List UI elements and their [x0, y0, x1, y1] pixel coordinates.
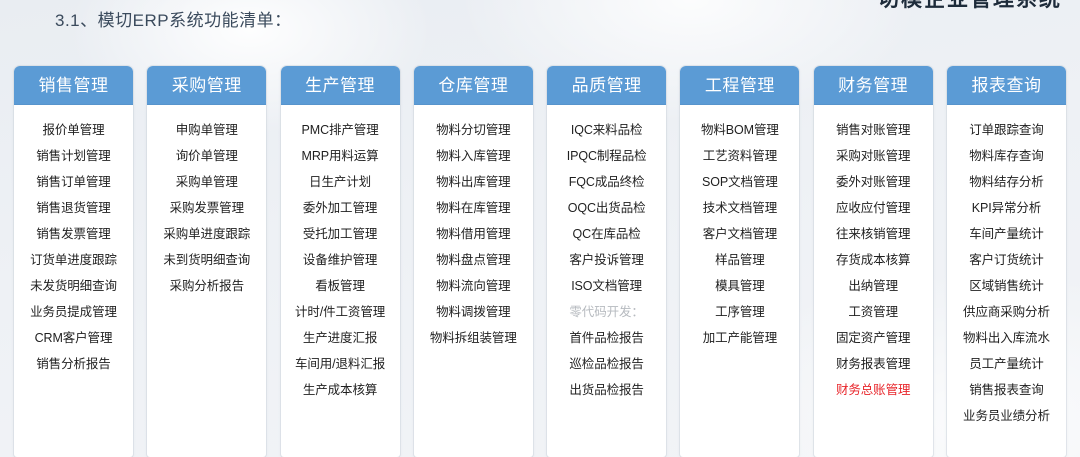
module-item[interactable]: 往来核销管理: [816, 221, 931, 247]
module-item[interactable]: 客户文档管理: [682, 221, 797, 247]
module-item[interactable]: FQC成品终检: [549, 169, 664, 195]
module-card: 品质管理IQC来料品检IPQC制程品检FQC成品终检OQC出货品检QC在库品检客…: [547, 66, 666, 457]
module-item[interactable]: 受托加工管理: [283, 221, 398, 247]
module-item[interactable]: 模具管理: [682, 273, 797, 299]
module-card-title[interactable]: 销售管理: [14, 66, 133, 105]
module-item[interactable]: 生产进度汇报: [283, 325, 398, 351]
module-item[interactable]: 采购对账管理: [816, 143, 931, 169]
module-card: 采购管理申购单管理询价单管理采购单管理采购发票管理采购单进度跟踪未到货明细查询采…: [147, 66, 266, 457]
module-item[interactable]: 询价单管理: [149, 143, 264, 169]
module-item[interactable]: 客户投诉管理: [549, 247, 664, 273]
module-item[interactable]: 销售分析报告: [16, 351, 131, 377]
module-item[interactable]: 技术文档管理: [682, 195, 797, 221]
module-item[interactable]: QC在库品检: [549, 221, 664, 247]
module-item[interactable]: 物料调拨管理: [416, 299, 531, 325]
module-item[interactable]: 供应商采购分析: [949, 299, 1064, 325]
module-item[interactable]: 物料在库管理: [416, 195, 531, 221]
module-item[interactable]: 工资管理: [816, 299, 931, 325]
module-item[interactable]: 物料盘点管理: [416, 247, 531, 273]
module-item[interactable]: 样品管理: [682, 247, 797, 273]
module-card-title[interactable]: 品质管理: [547, 66, 666, 105]
cut-off-heading: 切模企业管理系统: [878, 0, 1062, 13]
module-item[interactable]: 采购发票管理: [149, 195, 264, 221]
module-card-title[interactable]: 生产管理: [281, 66, 400, 105]
module-item[interactable]: 销售发票管理: [16, 221, 131, 247]
module-item[interactable]: 看板管理: [283, 273, 398, 299]
module-item[interactable]: 未发货明细查询: [16, 273, 131, 299]
module-item[interactable]: 物料出入库流水: [949, 325, 1064, 351]
module-item[interactable]: 销售计划管理: [16, 143, 131, 169]
module-item[interactable]: OQC出货品检: [549, 195, 664, 221]
module-item[interactable]: 财务报表管理: [816, 351, 931, 377]
module-card-title[interactable]: 报表查询: [947, 66, 1066, 105]
module-item[interactable]: 工艺资料管理: [682, 143, 797, 169]
module-item[interactable]: 销售退货管理: [16, 195, 131, 221]
module-item[interactable]: 员工产量统计: [949, 351, 1064, 377]
module-item[interactable]: IPQC制程品检: [549, 143, 664, 169]
module-item[interactable]: IQC来料品检: [549, 117, 664, 143]
module-item[interactable]: 采购单进度跟踪: [149, 221, 264, 247]
module-item[interactable]: 采购分析报告: [149, 273, 264, 299]
module-card: 仓库管理物料分切管理物料入库管理物料出库管理物料在库管理物料借用管理物料盘点管理…: [414, 66, 533, 457]
module-item[interactable]: 客户订货统计: [949, 247, 1064, 273]
module-item-group-label: 零代码开发：: [549, 299, 664, 325]
module-item[interactable]: 业务员提成管理: [16, 299, 131, 325]
module-item[interactable]: 订货单进度跟踪: [16, 247, 131, 273]
module-card: 销售管理报价单管理销售计划管理销售订单管理销售退货管理销售发票管理订货单进度跟踪…: [14, 66, 133, 457]
module-item[interactable]: 计时/件工资管理: [283, 299, 398, 325]
function-list-board: 销售管理报价单管理销售计划管理销售订单管理销售退货管理销售发票管理订货单进度跟踪…: [14, 66, 1066, 457]
module-item[interactable]: 巡检品检报告: [549, 351, 664, 377]
module-item[interactable]: 销售报表查询: [949, 377, 1064, 403]
module-item[interactable]: 首件品检报告: [549, 325, 664, 351]
module-item[interactable]: 报价单管理: [16, 117, 131, 143]
module-item[interactable]: SOP文档管理: [682, 169, 797, 195]
module-item[interactable]: 物料入库管理: [416, 143, 531, 169]
module-item[interactable]: 物料结存分析: [949, 169, 1064, 195]
module-card-title[interactable]: 采购管理: [147, 66, 266, 105]
module-card: 报表查询订单跟踪查询物料库存查询物料结存分析KPI异常分析车间产量统计客户订货统…: [947, 66, 1066, 457]
module-item[interactable]: 生产成本核算: [283, 377, 398, 403]
module-item[interactable]: 物料库存查询: [949, 143, 1064, 169]
module-item[interactable]: 物料流向管理: [416, 273, 531, 299]
module-card-title[interactable]: 财务管理: [814, 66, 933, 105]
module-item[interactable]: 车间用/退料汇报: [283, 351, 398, 377]
module-item[interactable]: 销售订单管理: [16, 169, 131, 195]
module-item[interactable]: 委外加工管理: [283, 195, 398, 221]
module-card: 工程管理物料BOM管理工艺资料管理SOP文档管理技术文档管理客户文档管理样品管理…: [680, 66, 799, 457]
module-item[interactable]: 委外对账管理: [816, 169, 931, 195]
module-item[interactable]: 申购单管理: [149, 117, 264, 143]
module-item[interactable]: 设备维护管理: [283, 247, 398, 273]
module-item[interactable]: 车间产量统计: [949, 221, 1064, 247]
module-item[interactable]: 物料出库管理: [416, 169, 531, 195]
module-item[interactable]: 存货成本核算: [816, 247, 931, 273]
module-item[interactable]: KPI异常分析: [949, 195, 1064, 221]
module-item[interactable]: 加工产能管理: [682, 325, 797, 351]
module-card: 生产管理PMC排产管理MRP用料运算日生产计划委外加工管理受托加工管理设备维护管…: [281, 66, 400, 457]
module-item[interactable]: 业务员业绩分析: [949, 403, 1064, 429]
module-item[interactable]: CRM客户管理: [16, 325, 131, 351]
module-item[interactable]: 物料分切管理: [416, 117, 531, 143]
module-item[interactable]: 工序管理: [682, 299, 797, 325]
module-item[interactable]: 订单跟踪查询: [949, 117, 1064, 143]
module-item[interactable]: PMC排产管理: [283, 117, 398, 143]
slide-canvas: 切模企业管理系统 3.1、模切ERP系统功能清单： 销售管理报价单管理销售计划管…: [0, 0, 1080, 457]
module-item[interactable]: 物料BOM管理: [682, 117, 797, 143]
module-item[interactable]: 应收应付管理: [816, 195, 931, 221]
module-card-items: 物料BOM管理工艺资料管理SOP文档管理技术文档管理客户文档管理样品管理模具管理…: [680, 105, 799, 361]
module-card-items: IQC来料品检IPQC制程品检FQC成品终检OQC出货品检QC在库品检客户投诉管…: [547, 105, 666, 413]
module-item[interactable]: 采购单管理: [149, 169, 264, 195]
module-card-items: PMC排产管理MRP用料运算日生产计划委外加工管理受托加工管理设备维护管理看板管…: [281, 105, 400, 413]
section-title: 3.1、模切ERP系统功能清单：: [55, 6, 292, 31]
module-item[interactable]: 销售对账管理: [816, 117, 931, 143]
module-item[interactable]: 出纳管理: [816, 273, 931, 299]
module-card-title[interactable]: 仓库管理: [414, 66, 533, 105]
module-card-items: 销售对账管理采购对账管理委外对账管理应收应付管理往来核销管理存货成本核算出纳管理…: [814, 105, 933, 413]
module-item[interactable]: 财务总账管理: [816, 377, 931, 403]
module-item[interactable]: ISO文档管理: [549, 273, 664, 299]
module-item[interactable]: 物料借用管理: [416, 221, 531, 247]
module-item[interactable]: 区域销售统计: [949, 273, 1064, 299]
module-item[interactable]: 固定资产管理: [816, 325, 931, 351]
module-item[interactable]: 未到货明细查询: [149, 247, 264, 273]
module-item[interactable]: 物料拆组装管理: [416, 325, 531, 351]
module-card-title[interactable]: 工程管理: [680, 66, 799, 105]
module-item[interactable]: 出货品检报告: [549, 377, 664, 403]
module-card-items: 申购单管理询价单管理采购单管理采购发票管理采购单进度跟踪未到货明细查询采购分析报…: [147, 105, 266, 309]
module-card-items: 订单跟踪查询物料库存查询物料结存分析KPI异常分析车间产量统计客户订货统计区域销…: [947, 105, 1066, 439]
module-item[interactable]: 日生产计划: [283, 169, 398, 195]
module-item[interactable]: MRP用料运算: [283, 143, 398, 169]
module-card: 财务管理销售对账管理采购对账管理委外对账管理应收应付管理往来核销管理存货成本核算…: [814, 66, 933, 457]
module-card-items: 报价单管理销售计划管理销售订单管理销售退货管理销售发票管理订货单进度跟踪未发货明…: [14, 105, 133, 387]
module-card-items: 物料分切管理物料入库管理物料出库管理物料在库管理物料借用管理物料盘点管理物料流向…: [414, 105, 533, 361]
